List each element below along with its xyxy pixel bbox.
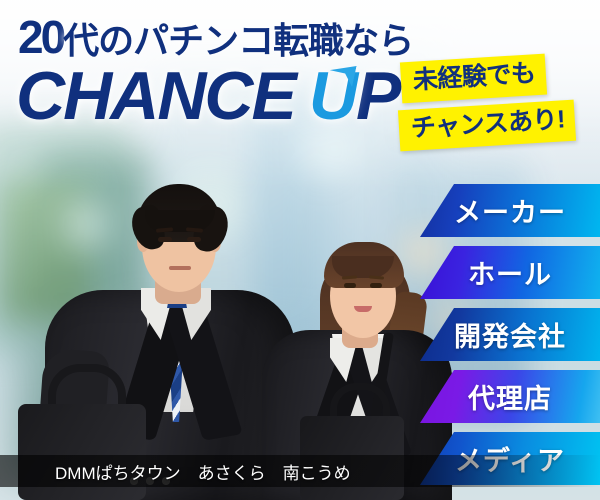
category-item-maker[interactable]: メーカー — [420, 184, 600, 237]
category-item-hall[interactable]: ホール — [420, 246, 600, 299]
category-item-developer[interactable]: 開発会社 — [420, 308, 600, 361]
caption-text: DMMぱちタウン あさくら 南こうめ — [0, 459, 351, 484]
ad-banner[interactable]: 20代のパチンコ転職なら CHANCEUP 未経験でも チャンスあり! メーカー… — [0, 0, 600, 500]
category-item-agency[interactable]: 代理店 — [420, 370, 600, 423]
category-list: メーカー ホール 開発会社 代理店 メディア — [0, 0, 600, 500]
caption-bar: DMMぱちタウン あさくら 南こうめ — [0, 455, 600, 487]
